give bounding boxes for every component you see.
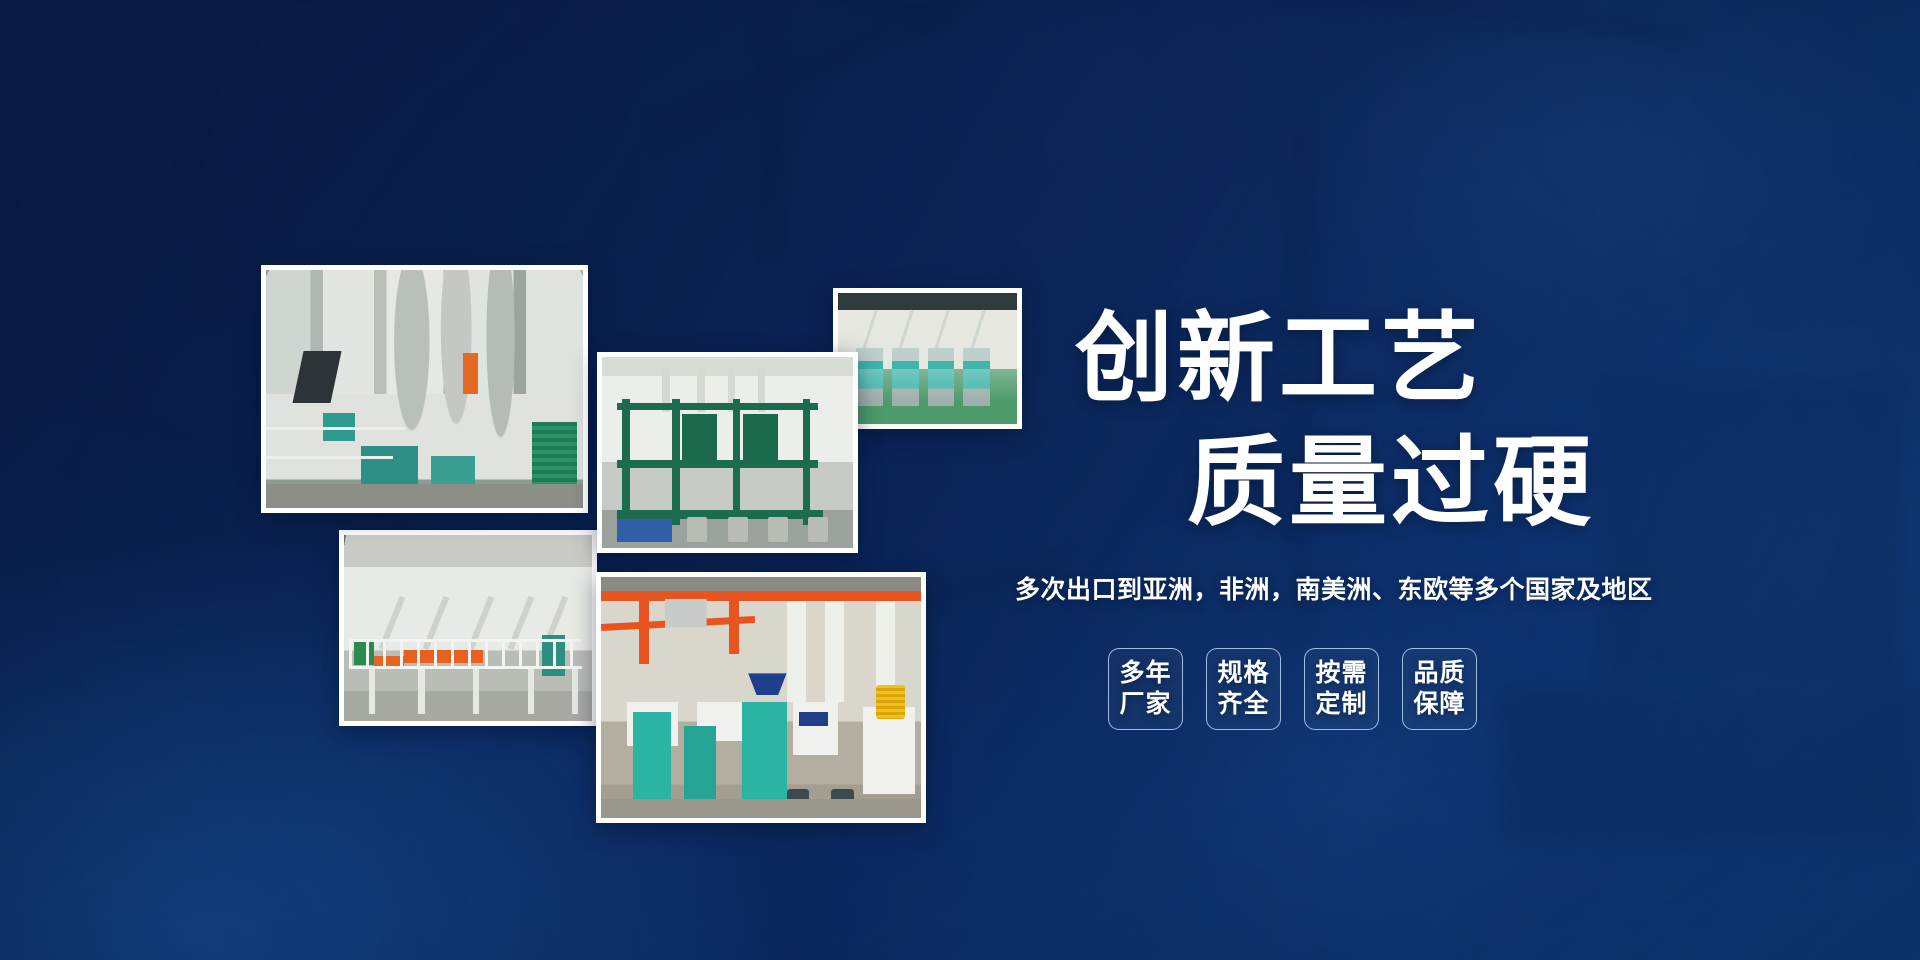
headline: 创新工艺 质量过硬 [1075,296,1595,544]
subtitle: 多次出口到亚洲，非洲，南美洲、东欧等多个国家及地区 [1015,570,1653,606]
photo-teal-mills-orange-beams [596,572,926,823]
badge-line-1: 品质 [1413,658,1465,689]
feature-badge[interactable]: 规格 齐全 [1206,648,1281,730]
badge-line-1: 按需 [1315,658,1367,689]
badge-line-2: 厂家 [1119,689,1171,720]
promo-banner: 创新工艺 质量过硬 多次出口到亚洲，非洲，南美洲、东欧等多个国家及地区 多年 厂… [0,0,1920,960]
feature-badge-list: 多年 厂家 规格 齐全 按需 定制 品质 保障 [1108,648,1477,730]
badge-line-1: 多年 [1119,658,1171,689]
banner-text-column: 创新工艺 质量过硬 多次出口到亚洲，非洲，南美洲、东欧等多个国家及地区 多年 厂… [1015,0,1715,960]
badge-line-2: 保障 [1413,689,1465,720]
badge-line-2: 齐全 [1217,689,1269,720]
photo-milling-line-with-ducting [261,265,588,513]
photo-collage [0,0,1060,960]
headline-line-1: 创新工艺 [1075,303,1483,413]
photo-production-line-orange-conveyor [339,530,597,726]
photo-green-steel-frame-mill [597,352,858,553]
feature-badge[interactable]: 品质 保障 [1402,648,1477,730]
headline-line-2: 质量过硬 [1075,420,1595,544]
badge-line-2: 定制 [1315,689,1367,720]
feature-badge[interactable]: 按需 定制 [1304,648,1379,730]
feature-badge[interactable]: 多年 厂家 [1108,648,1183,730]
photo-teal-mills-green-floor [833,288,1022,429]
badge-line-1: 规格 [1217,658,1269,689]
